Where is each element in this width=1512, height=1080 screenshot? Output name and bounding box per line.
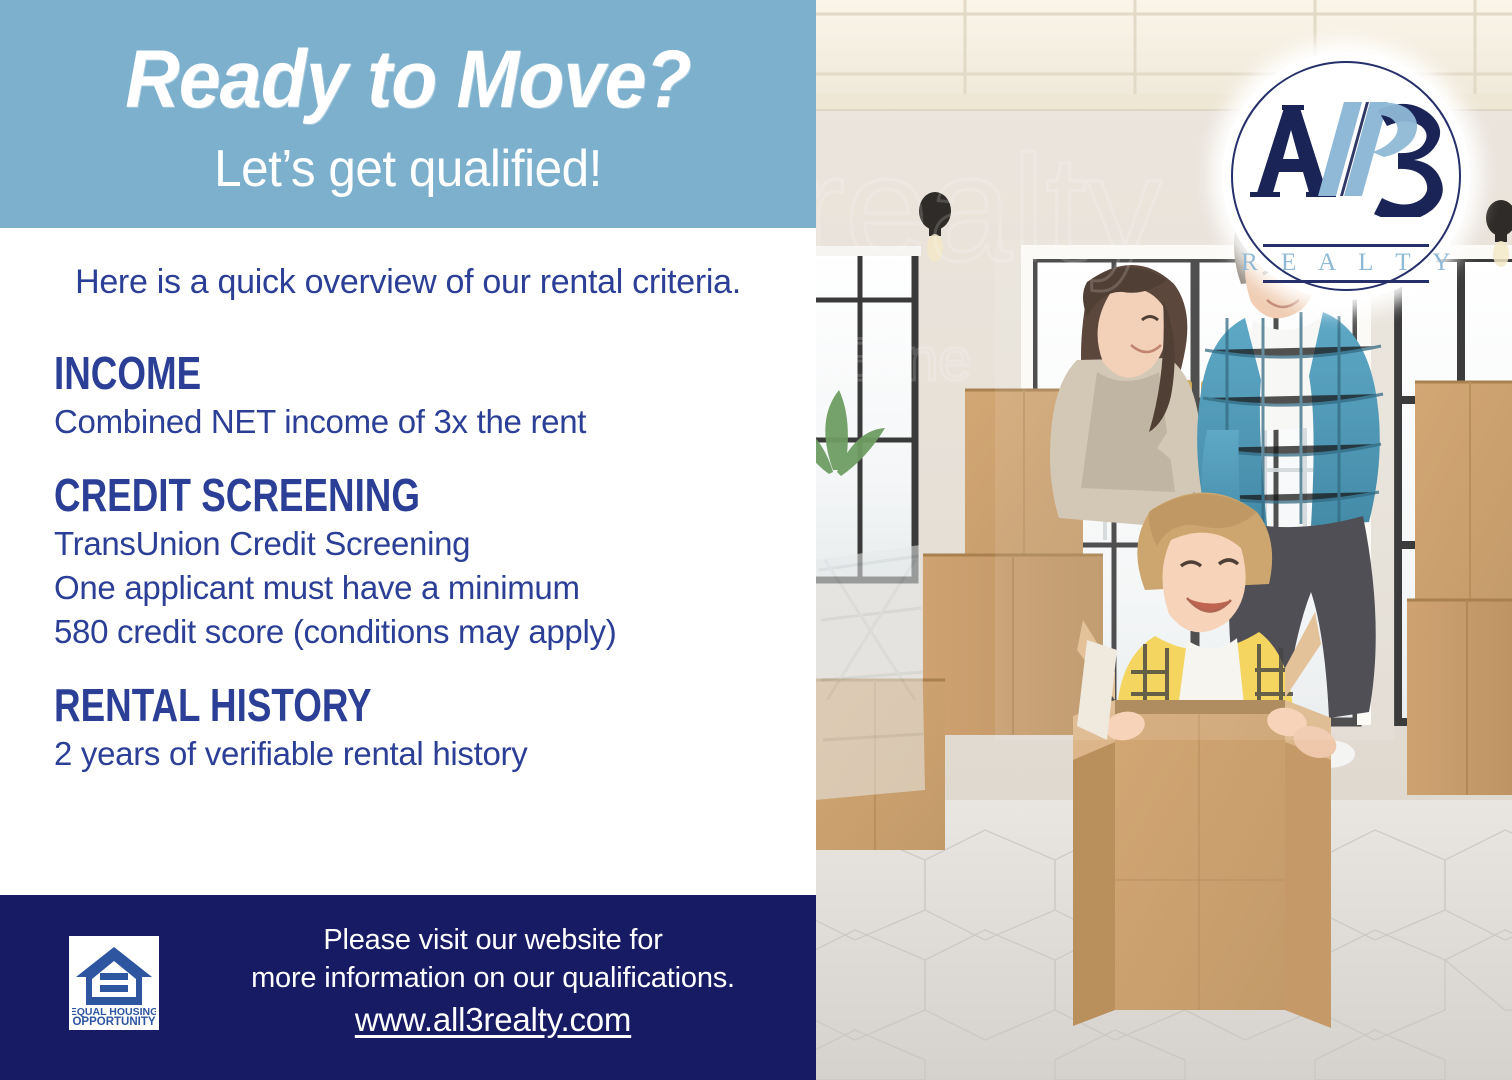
footer-banner: EQUAL HOUSING OPPORTUNITY Please visit o…: [0, 895, 816, 1080]
criteria-line: One applicant must have a minimum: [54, 566, 794, 610]
page-title: Ready to Move?: [33, 38, 784, 122]
criteria-list: INCOME Combined NET income of 3x the ren…: [54, 348, 794, 802]
criteria-line: Combined NET income of 3x the rent: [54, 400, 794, 444]
website-link[interactable]: www.all3realty.com: [355, 999, 631, 1041]
footer-message: Please visit our website for more inform…: [170, 921, 816, 1041]
equal-housing-opportunity-icon: EQUAL HOUSING OPPORTUNITY: [69, 936, 159, 1030]
criteria-line: TransUnion Credit Screening: [54, 522, 794, 566]
footer-line-2: more information on our qualifications.: [170, 959, 816, 997]
criteria-panel: Here is a quick overview of our rental c…: [0, 228, 816, 895]
page-subtitle: Let’s get qualified!: [20, 138, 795, 200]
logo-wordmark: [1222, 92, 1470, 217]
eho-logo-icon: EQUAL HOUSING OPPORTUNITY: [72, 939, 156, 1027]
criteria-line: 580 credit score (conditions may apply): [54, 610, 794, 654]
criteria-title: RENTAL HISTORY: [54, 680, 646, 730]
criteria-item-rental-history: RENTAL HISTORY 2 years of verifiable ren…: [54, 680, 794, 776]
header-banner: Ready to Move? Let’s get qualified!: [0, 0, 816, 228]
criteria-item-income: INCOME Combined NET income of 3x the ren…: [54, 348, 794, 444]
flyer-root: realty tErine: [0, 0, 1512, 1080]
svg-text:tErine: tErine: [815, 326, 972, 393]
logo-rule-bottom: [1263, 280, 1429, 283]
criteria-item-credit-screening: CREDIT SCREENING TransUnion Credit Scree…: [54, 470, 794, 654]
criteria-title: INCOME: [54, 348, 646, 398]
logo-realty-text: R E A L T Y: [1222, 246, 1470, 279]
intro-text: Here is a quick overview of our rental c…: [0, 260, 816, 304]
footer-line-1: Please visit our website for: [170, 921, 816, 959]
criteria-title: CREDIT SCREENING: [54, 470, 646, 520]
svg-text:OPPORTUNITY: OPPORTUNITY: [72, 1016, 155, 1027]
all3-monogram-icon: [1222, 92, 1470, 217]
all3-realty-logo: R E A L T Y: [1222, 52, 1470, 300]
criteria-line: 2 years of verifiable rental history: [54, 732, 794, 776]
